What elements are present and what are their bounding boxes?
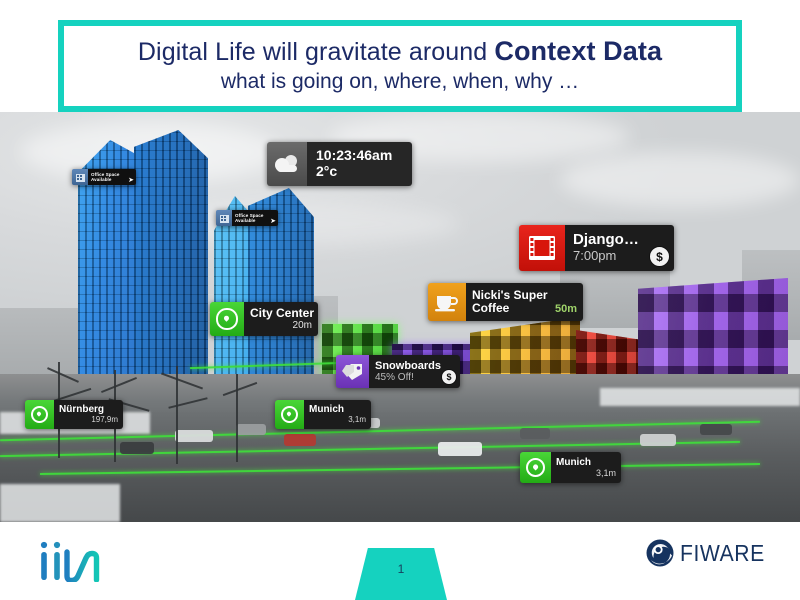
weather-time: 10:23:46am <box>316 148 404 164</box>
ar-tag-coffee-shop[interactable]: Nicki's Super Coffee 50m <box>428 283 583 321</box>
weather-temperature: 2°c <box>316 164 404 180</box>
film-strip-icon <box>519 225 565 271</box>
office-space-1-label: Office Space Available <box>91 172 132 183</box>
price-tag-icon <box>336 355 369 388</box>
nurnberg-label: Nürnberg <box>59 404 118 415</box>
coffee-cup-icon <box>428 283 466 321</box>
slide-root: 10:23:46am 2°c Django… <box>0 0 800 600</box>
ar-tag-city-center[interactable]: City Center 20m <box>210 302 318 336</box>
title-emphasis: Context Data <box>494 36 662 66</box>
ar-city-photo: 10:23:46am 2°c Django… <box>0 112 800 522</box>
ar-tag-snowboards-offer[interactable]: Snowboards 45% Off! $ <box>336 355 460 388</box>
office-space-2-label: Office Space Available <box>235 213 274 224</box>
city-center-distance: 20m <box>250 320 312 331</box>
ar-tag-office-space-1[interactable]: Office Space Available ➤ <box>72 169 136 185</box>
city-center-info: City Center 20m <box>244 302 318 336</box>
building-icon <box>216 210 232 226</box>
page-title: Digital Life will gravitate around Conte… <box>138 36 662 66</box>
location-pin-icon <box>520 452 551 483</box>
location-pin-icon <box>275 400 304 429</box>
munich-1-distance: 3,1m <box>309 416 366 425</box>
coffee-distance: 50m <box>555 303 577 315</box>
fiware-wordmark: FIWARE <box>680 540 765 567</box>
munich-1-info: Munich 3,1m <box>304 400 371 429</box>
office-space-2-info: Office Space Available ➤ <box>232 210 278 226</box>
munich-1-label: Munich <box>309 404 366 415</box>
ar-tag-nurnberg[interactable]: Nürnberg 197,9m <box>25 400 123 429</box>
fiware-swirl-icon <box>645 538 675 568</box>
ar-tag-office-space-2[interactable]: Office Space Available ➤ <box>216 210 278 226</box>
snowboards-info: Snowboards 45% Off! $ <box>369 355 460 388</box>
page-number: 1 <box>398 562 405 576</box>
coffee-name-line1: Nicki's Super <box>472 289 577 302</box>
nurnberg-info: Nürnberg 197,9m <box>54 400 123 429</box>
ar-tag-munich-1[interactable]: Munich 3,1m <box>275 400 371 429</box>
movie-title: Django… <box>573 232 666 249</box>
coffee-info: Nicki's Super Coffee 50m <box>466 283 583 321</box>
munich-2-info: Munich 3,1m <box>551 452 621 483</box>
cloud-icon <box>267 142 307 186</box>
slide-title-box: Digital Life will gravitate around Conte… <box>58 20 742 112</box>
iin-logo <box>36 536 116 582</box>
building-icon <box>72 169 88 185</box>
weather-readout: 10:23:46am 2°c <box>307 142 412 186</box>
ar-tag-munich-2[interactable]: Munich 3,1m <box>520 452 621 483</box>
fiware-logo: FIWARE <box>645 538 772 568</box>
city-center-label: City Center <box>250 307 312 320</box>
location-pin-icon <box>210 302 244 336</box>
price-badge[interactable]: $ <box>441 369 457 385</box>
title-prefix: Digital Life will gravitate around <box>138 38 494 66</box>
ar-tag-weather[interactable]: 10:23:46am 2°c <box>267 142 412 186</box>
munich-2-distance: 3,1m <box>556 468 616 478</box>
ar-tag-movie[interactable]: Django… 7:00pm $ <box>519 225 674 271</box>
page-number-trapezoid: 1 <box>355 548 447 600</box>
price-badge[interactable]: $ <box>649 246 670 267</box>
coffee-name-line2: Coffee <box>472 302 509 315</box>
snowboards-title: Snowboards <box>375 360 454 372</box>
cursor-arrow-icon: ➤ <box>128 177 134 184</box>
nurnberg-distance: 197,9m <box>59 416 118 425</box>
movie-info: Django… 7:00pm $ <box>565 225 674 271</box>
cursor-arrow-icon: ➤ <box>270 218 276 225</box>
highlighted-building-blue <box>134 130 208 412</box>
location-pin-icon <box>25 400 54 429</box>
munich-2-label: Munich <box>556 457 616 468</box>
office-space-1-info: Office Space Available ➤ <box>88 169 136 185</box>
page-subtitle: what is going on, where, when, why … <box>221 68 579 95</box>
